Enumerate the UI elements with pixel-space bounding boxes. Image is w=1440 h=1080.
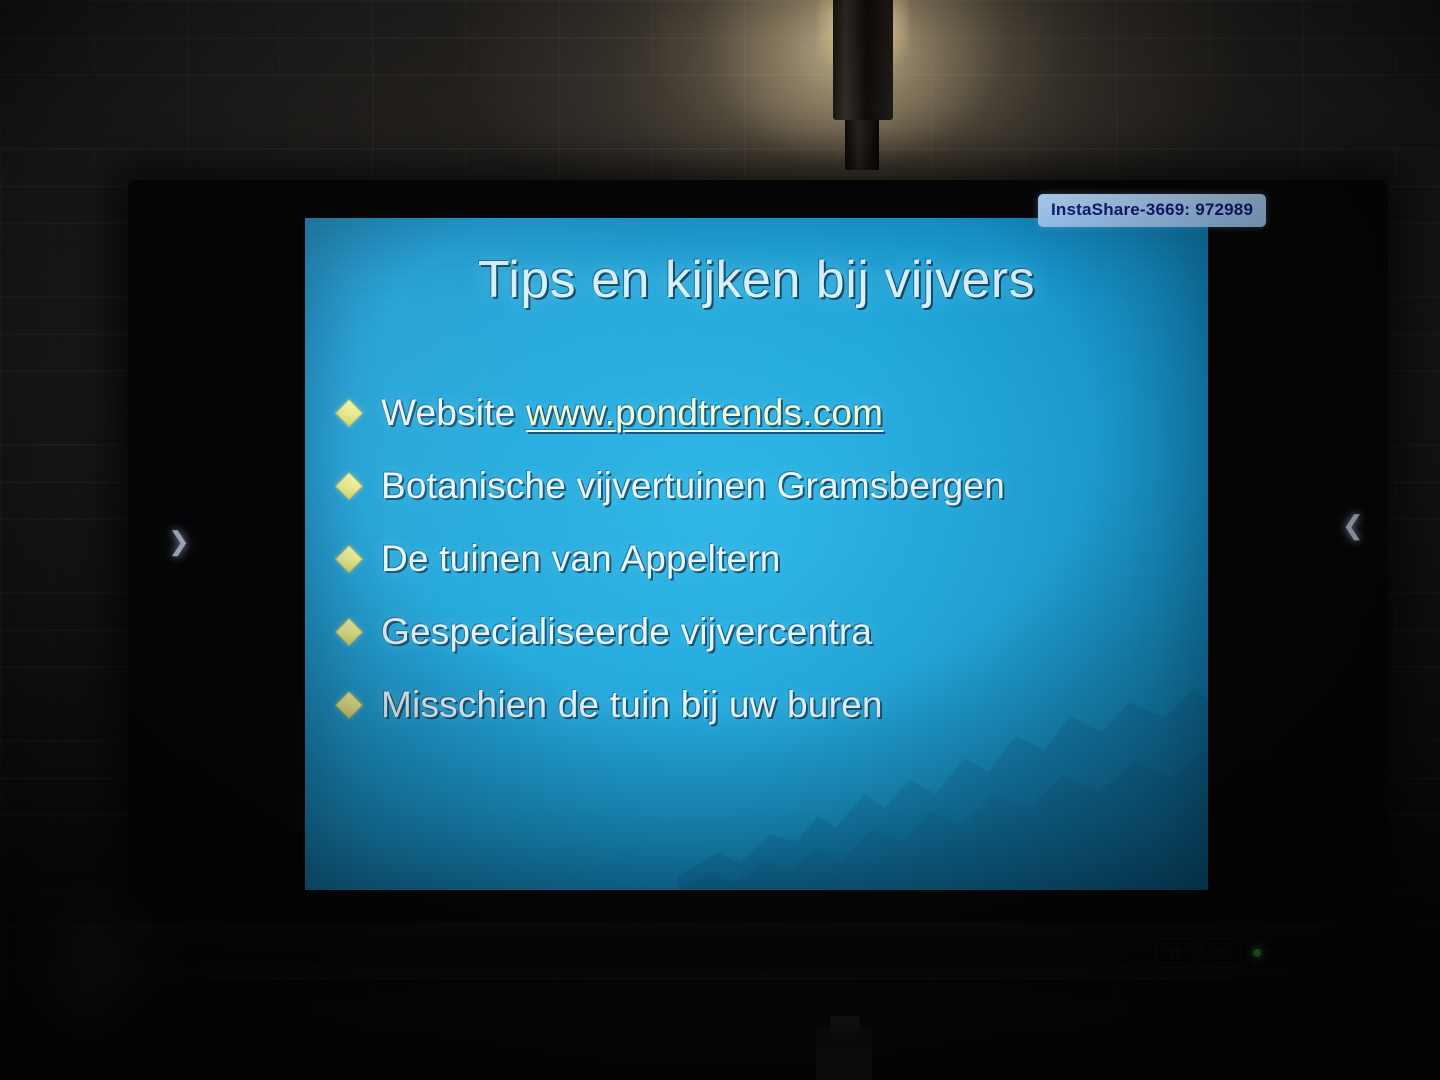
power-led-indicator xyxy=(1253,949,1261,957)
bullet-prefix: Website xyxy=(381,392,526,433)
slide-title: Tips en kijken bij vijvers xyxy=(305,250,1208,310)
bullet-text: Botanische vijvertuinen Gramsbergen xyxy=(381,465,1005,507)
diamond-bullet-icon xyxy=(335,472,363,500)
bullet-text: Website www.pondtrends.com xyxy=(381,392,883,434)
instashare-badge: InstaShare-3669: 972989 xyxy=(1038,194,1266,227)
tv-screen: Tips en kijken bij vijvers Website www.p… xyxy=(128,180,1388,922)
wall-lamp xyxy=(833,0,893,120)
bullet-text: De tuinen van Appeltern xyxy=(381,538,781,580)
website-link[interactable]: www.pondtrends.com xyxy=(526,392,883,433)
tv-brand-label xyxy=(688,906,818,920)
list-item: Botanische vijvertuinen Gramsbergen xyxy=(331,463,1191,509)
source-button[interactable]: ⧉ xyxy=(1155,938,1195,968)
list-item: Website www.pondtrends.com xyxy=(331,390,1191,436)
presentation-slide: Tips en kijken bij vijvers Website www.p… xyxy=(305,218,1208,890)
power-icon: ⏻ xyxy=(1202,939,1240,967)
foreground-blurred-object-highlight xyxy=(14,900,164,1070)
diamond-bullet-icon xyxy=(335,399,363,427)
chevron-right-icon[interactable]: ❯ xyxy=(168,528,190,554)
tv-bottom-bezel: ⧉ ⏻ xyxy=(128,922,1388,980)
list-item: De tuinen van Appeltern xyxy=(331,536,1191,582)
photo-scene: Tips en kijken bij vijvers Website www.p… xyxy=(0,0,1440,1080)
diamond-bullet-icon xyxy=(335,691,363,719)
floor xyxy=(0,1000,1440,1080)
television: Tips en kijken bij vijvers Website www.p… xyxy=(128,180,1388,980)
list-item: Gespecialiseerde vijvercentra xyxy=(331,609,1191,655)
bullet-list: Website www.pondtrends.com Botanische vi… xyxy=(331,390,1191,755)
diamond-bullet-icon xyxy=(335,545,363,573)
source-icon: ⧉ xyxy=(1156,939,1194,967)
bullet-text: Gespecialiseerde vijvercentra xyxy=(381,611,872,653)
power-button[interactable]: ⏻ xyxy=(1201,938,1241,968)
diamond-bullet-icon xyxy=(335,618,363,646)
list-item: Misschien de tuin bij uw buren xyxy=(331,682,1191,728)
chevron-left-icon[interactable]: ❮ xyxy=(1342,512,1364,538)
bottle-cap xyxy=(830,1016,860,1038)
bullet-text: Misschien de tuin bij uw buren xyxy=(381,684,883,726)
